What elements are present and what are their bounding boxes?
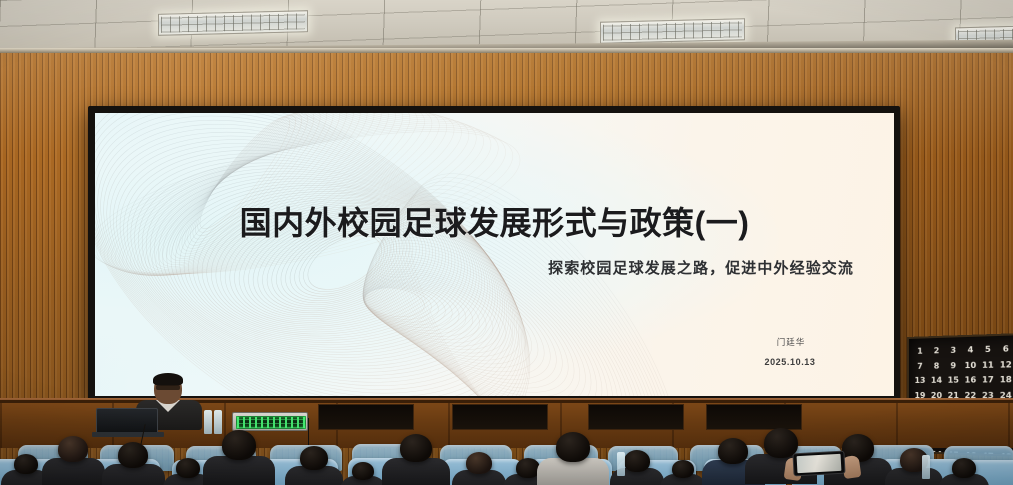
slide-subtitle: 探索校园足球发展之路，促进中外经验交流 [548,257,854,278]
audience-head-silhouette [556,432,590,462]
seat-number: 8 [928,359,945,374]
slide-title: 国内外校园足球发展形式与政策(一) [95,198,894,244]
audience-head-silhouette [672,460,694,478]
projection-screen-frame: 国内外校园足球发展形式与政策(一) 探索校园足球发展之路，促进中外经验交流 门廷… [88,106,900,402]
seat-number: 5 [979,342,997,358]
audience-head-silhouette [718,438,748,464]
slide-date: 2025.10.13 [732,357,848,367]
wall-top-trim [0,48,1013,53]
ceiling-light-fixture [158,10,308,36]
seat-number: 10 [962,358,979,373]
presentation-slide: 国内外校园足球发展形式与政策(一) 探索校园足球发展之路，促进中外经验交流 门廷… [95,113,894,396]
smartphone-recording [792,451,845,477]
audience-shoulders [382,458,449,485]
audience-head-silhouette [14,454,38,474]
seat-number: 1 [912,344,928,359]
audience-head-silhouette [222,430,256,460]
seat-number: 13 [912,374,928,389]
audience-head-silhouette [58,436,88,462]
slide-line-art-decoration [95,113,894,396]
seat-number: 18 [997,373,1013,388]
seat-number: 3 [945,343,962,358]
audience-shoulders [537,458,608,485]
audience-head-silhouette [952,458,976,478]
seat-number: 2 [928,344,945,359]
seat-number: 17 [979,373,997,388]
seat-number: 14 [928,374,945,389]
audience-shoulders [203,456,274,485]
lecture-hall-scene: 国内外校园足球发展形式与政策(一) 探索校园足球发展之路，促进中外经验交流 门廷… [0,0,1013,485]
seat-number: 9 [945,358,962,373]
seat-number: 12 [997,357,1013,373]
desk-recess [452,404,548,430]
seat-number: 7 [912,359,928,374]
seat-number: 4 [962,343,979,358]
seat-number: 16 [962,373,979,388]
seat-number: 15 [945,373,962,388]
seat-number: 6 [997,342,1013,358]
water-bottle [922,455,930,479]
smartphone-screen [797,454,842,473]
audience-shoulders [42,458,105,485]
audience-head-silhouette [466,452,492,474]
audience-head-silhouette [352,462,374,480]
presenter-glasses [156,385,180,390]
desk-recess [706,404,802,430]
audience-head-silhouette [118,442,148,468]
desk-recess [588,404,684,430]
audience-head-silhouette [176,458,200,478]
desk-recess [318,404,414,430]
audience-area [0,428,1013,485]
seat-number: 11 [979,358,997,373]
audience-head-silhouette [300,446,328,470]
slide-presenter-name: 门廷华 [746,336,836,348]
audience-head-silhouette [400,434,432,462]
water-bottle [617,452,625,476]
audience-head-silhouette [624,450,650,472]
ceiling-light-fixture [600,18,745,44]
